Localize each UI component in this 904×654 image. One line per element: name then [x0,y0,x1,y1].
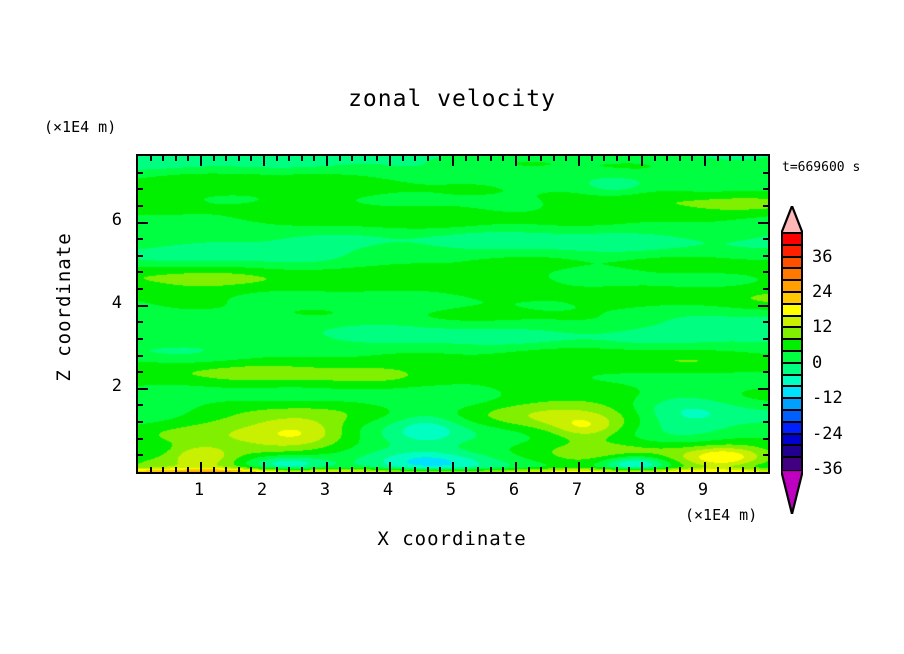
y-axis-minor-tick [763,321,768,323]
y-axis-minor-tick [763,338,768,340]
y-axis-minor-tick [138,355,143,357]
colorbar-tick-label: -36 [812,459,843,479]
x-axis-minor-tick [666,467,668,472]
y-tick-label: 6 [98,210,122,230]
x-axis-major-tick [389,462,391,472]
x-axis-minor-tick [439,156,441,161]
x-axis-minor-tick [175,467,177,472]
x-axis-major-tick [263,156,265,166]
x-axis-major-tick [326,462,328,472]
x-axis-minor-tick [238,156,240,161]
x-axis-major-tick [641,156,643,166]
x-axis-minor-tick [276,156,278,161]
x-axis-minor-tick [553,467,555,472]
y-tick-label: 2 [98,376,122,396]
y-tick-label: 4 [98,293,122,313]
y-axis-minor-tick [763,255,768,257]
x-axis-minor-tick [565,156,567,161]
contour-field [138,156,768,472]
y-axis-major-tick [758,222,768,224]
colorbar-cell [783,364,801,376]
y-axis-major-tick [138,222,148,224]
colorbar-cell [783,305,801,317]
x-axis-minor-tick [502,467,504,472]
x-axis-minor-tick [465,156,467,161]
y-axis-minor-tick [763,205,768,207]
colorbar-cell [783,246,801,258]
x-axis-minor-tick [301,467,303,472]
x-axis-minor-tick [414,467,416,472]
x-axis-minor-tick [288,467,290,472]
colorbar-cell [783,435,801,447]
colorbar-cell [783,352,801,364]
x-axis-minor-tick [742,156,744,161]
y-axis-minor-tick [138,188,143,190]
y-axis-minor-tick [763,288,768,290]
x-axis-major-tick [704,156,706,166]
colorbar [781,232,803,472]
x-axis-minor-tick [213,156,215,161]
y-axis-minor-tick [763,438,768,440]
x-axis-major-tick [326,156,328,166]
y-axis-minor-tick [138,288,143,290]
x-axis-title: X coordinate [0,528,904,550]
x-axis-minor-tick [376,467,378,472]
y-axis-minor-tick [138,172,143,174]
x-axis-minor-tick [540,467,542,472]
colorbar-cell [783,340,801,352]
x-axis-minor-tick [225,467,227,472]
y-axis-minor-tick [763,355,768,357]
x-axis-minor-tick [187,156,189,161]
x-tick-label: 9 [688,480,718,500]
x-axis-minor-tick [616,467,618,472]
x-axis-minor-tick [477,156,479,161]
x-axis-minor-tick [427,467,429,472]
x-axis-major-tick [389,156,391,166]
colorbar-cell [783,269,801,281]
x-axis-minor-tick [339,156,341,161]
y-axis-minor-tick [138,404,143,406]
x-axis-minor-tick [250,467,252,472]
x-axis-minor-tick [603,156,605,161]
x-axis-major-tick [452,156,454,166]
x-axis-minor-tick [187,467,189,472]
x-axis-minor-tick [414,156,416,161]
x-axis-minor-tick [691,156,693,161]
x-axis-major-tick [452,462,454,472]
x-axis-minor-tick [288,156,290,161]
x-axis-minor-tick [628,156,630,161]
y-axis-minor-tick [138,338,143,340]
y-axis-minor-tick [763,238,768,240]
y-axis-major-tick [758,305,768,307]
x-axis-minor-tick [565,467,567,472]
y-axis-minor-tick [138,255,143,257]
x-axis-minor-tick [162,156,164,161]
y-axis-minor-tick [138,271,143,273]
y-axis-minor-tick [763,188,768,190]
x-axis-minor-tick [628,467,630,472]
x-axis-major-tick [263,462,265,472]
y-axis-minor-tick [763,404,768,406]
x-axis-minor-tick [162,467,164,472]
x-tick-label: 3 [310,480,340,500]
x-axis-minor-tick [666,156,668,161]
x-axis-minor-tick [717,467,719,472]
x-axis-minor-tick [313,467,315,472]
x-axis-minor-tick [591,156,593,161]
x-axis-minor-tick [175,156,177,161]
x-axis-minor-tick [250,156,252,161]
x-tick-label: 6 [499,480,529,500]
x-axis-major-tick [578,462,580,472]
x-axis-minor-tick [313,156,315,161]
x-axis-minor-tick [528,156,530,161]
colorbar-cell [783,376,801,388]
x-axis-minor-tick [528,467,530,472]
x-axis-unit-label: (×1E4 m) [685,506,757,524]
x-axis-minor-tick [402,467,404,472]
x-axis-minor-tick [654,156,656,161]
y-axis-minor-tick [138,454,143,456]
x-axis-minor-tick [150,467,152,472]
x-axis-minor-tick [729,467,731,472]
x-axis-major-tick [200,156,202,166]
x-axis-minor-tick [225,156,227,161]
colorbar-cell [783,281,801,293]
y-axis-minor-tick [763,371,768,373]
colorbar-cell [783,423,801,435]
x-axis-minor-tick [754,467,756,472]
colorbar-cell [783,399,801,411]
x-axis-minor-tick [465,467,467,472]
x-axis-minor-tick [402,156,404,161]
x-axis-major-tick [641,462,643,472]
x-axis-minor-tick [301,156,303,161]
y-axis-major-tick [138,388,148,390]
x-axis-minor-tick [238,467,240,472]
y-axis-minor-tick [763,421,768,423]
x-axis-minor-tick [717,156,719,161]
colorbar-tick-label: -12 [812,388,843,408]
x-axis-major-tick [515,462,517,472]
colorbar-cell [783,411,801,423]
x-axis-minor-tick [679,467,681,472]
y-axis-minor-tick [138,438,143,440]
colorbar-cell [783,458,801,470]
y-axis-major-tick [138,305,148,307]
x-axis-minor-tick [616,156,618,161]
colorbar-tick-label: 0 [812,353,822,373]
colorbar-over-arrow [781,206,803,234]
y-axis-unit-label: (×1E4 m) [44,118,116,136]
x-axis-minor-tick [490,156,492,161]
colorbar-cell [783,317,801,329]
timestamp-annotation: t=669600 s [782,160,860,175]
x-axis-minor-tick [691,467,693,472]
y-axis-title: Z coordinate [53,197,75,417]
x-axis-major-tick [200,462,202,472]
colorbar-cell [783,328,801,340]
x-tick-label: 5 [436,480,466,500]
x-axis-minor-tick [364,156,366,161]
x-axis-minor-tick [339,467,341,472]
x-axis-minor-tick [477,467,479,472]
x-axis-minor-tick [553,156,555,161]
x-axis-minor-tick [351,467,353,472]
x-axis-major-tick [578,156,580,166]
y-axis-minor-tick [138,321,143,323]
y-axis-minor-tick [138,238,143,240]
colorbar-cell [783,387,801,399]
x-axis-minor-tick [591,467,593,472]
y-axis-major-tick [758,388,768,390]
y-axis-minor-tick [138,421,143,423]
x-axis-minor-tick [603,467,605,472]
x-axis-minor-tick [276,467,278,472]
x-axis-minor-tick [742,467,744,472]
colorbar-tick-label: -24 [812,424,843,444]
x-axis-minor-tick [439,467,441,472]
x-axis-minor-tick [427,156,429,161]
x-axis-minor-tick [679,156,681,161]
colorbar-under-arrow [781,470,803,514]
x-axis-minor-tick [376,156,378,161]
colorbar-tick-label: 36 [812,247,832,267]
page-title: zonal velocity [0,86,904,112]
y-axis-minor-tick [138,205,143,207]
colorbar-cell [783,293,801,305]
colorbar-tick-label: 12 [812,317,832,337]
y-axis-minor-tick [763,271,768,273]
x-axis-minor-tick [540,156,542,161]
colorbar-tick-label: 24 [812,282,832,302]
y-axis-minor-tick [763,454,768,456]
y-axis-minor-tick [763,172,768,174]
x-tick-label: 8 [625,480,655,500]
x-axis-minor-tick [754,156,756,161]
x-axis-minor-tick [490,467,492,472]
x-axis-minor-tick [654,467,656,472]
x-axis-major-tick [515,156,517,166]
x-axis-minor-tick [729,156,731,161]
x-tick-label: 4 [373,480,403,500]
x-tick-label: 1 [184,480,214,500]
y-axis-minor-tick [138,371,143,373]
colorbar-cell [783,446,801,458]
x-axis-minor-tick [364,467,366,472]
x-tick-label: 2 [247,480,277,500]
x-axis-minor-tick [502,156,504,161]
x-axis-minor-tick [213,467,215,472]
colorbar-cell [783,234,801,246]
x-axis-major-tick [704,462,706,472]
colorbar-cell [783,258,801,270]
x-tick-label: 7 [562,480,592,500]
contour-plot-area [136,154,770,474]
x-axis-minor-tick [351,156,353,161]
x-axis-minor-tick [150,156,152,161]
